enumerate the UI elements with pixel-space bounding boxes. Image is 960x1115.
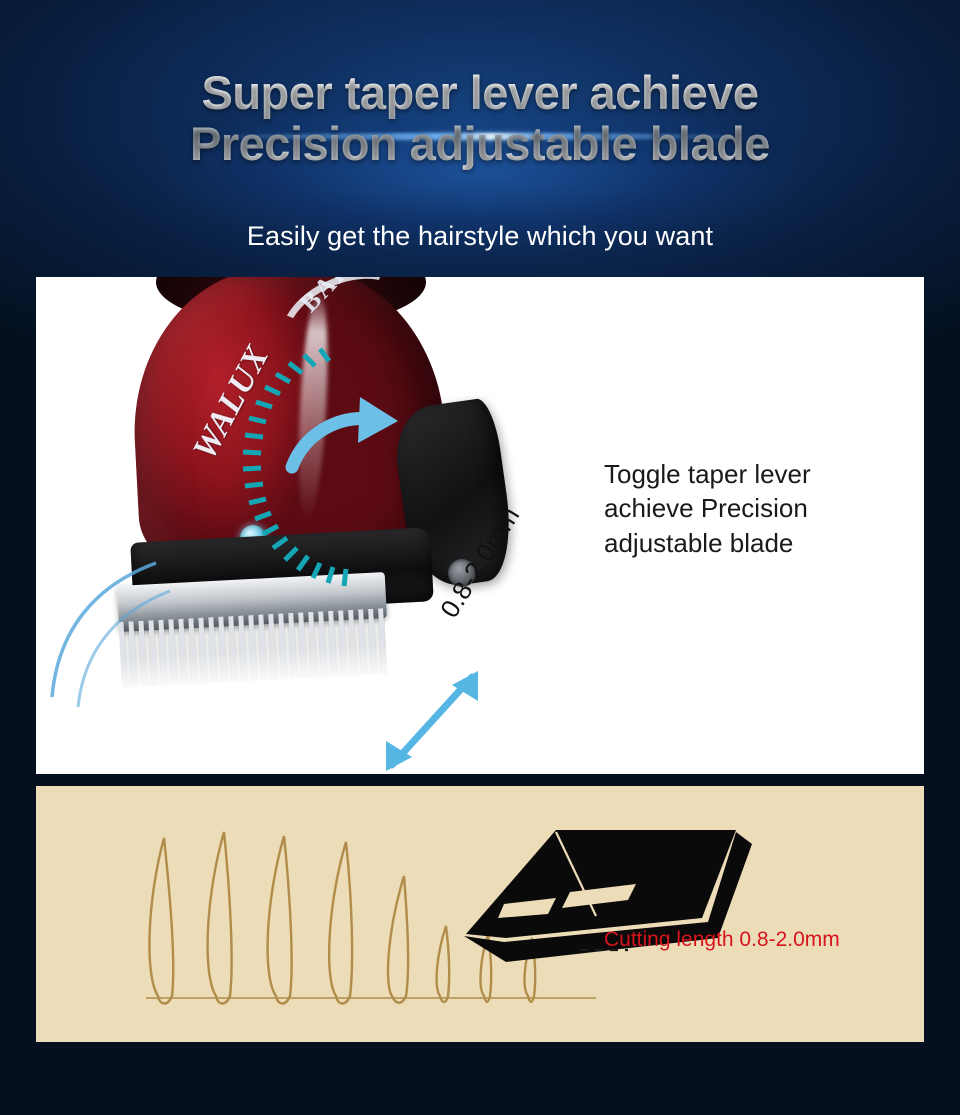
headline-line-2: Precision adjustable blade [0,119,960,170]
cutting-length-diagram: Cutting length 0.8-2.0mm [36,786,924,1042]
motion-arc-icon [36,557,176,717]
promo-page: Super taper lever achieve Precision adju… [0,0,960,1115]
caption-line-1: Toggle taper lever [604,457,904,491]
diagram-graphic [36,786,924,1042]
dimension-arrow-icon [374,667,494,774]
product-photo-panel: BAR WALUX [36,277,924,774]
headline-line-1: Super taper lever achieve [201,66,758,119]
photo-caption: Toggle taper lever achieve Precision adj… [604,457,904,560]
cutting-length-label: Cutting length 0.8-2.0mm [604,928,840,952]
caption-line-2: achieve Precision [604,491,904,525]
page-subheadline: Easily get the hairstyle which you want [0,221,960,252]
caption-line-3: adjustable blade [604,526,904,560]
page-headline: Super taper lever achieve Precision adju… [0,68,960,170]
